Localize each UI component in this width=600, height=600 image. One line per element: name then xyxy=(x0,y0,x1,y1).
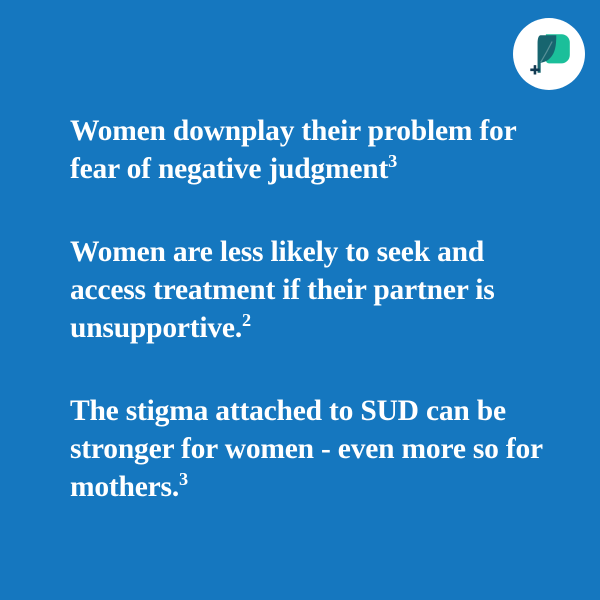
statement-1: Women downplay their problem for fear of… xyxy=(70,112,550,188)
statement-1-text: Women downplay their problem for fear of… xyxy=(70,115,516,185)
statement-list: Women downplay their problem for fear of… xyxy=(70,112,550,506)
statement-2-footnote: 2 xyxy=(242,310,251,330)
statement-3-text: The stigma attached to SUD can be strong… xyxy=(70,395,542,503)
statement-3: The stigma attached to SUD can be strong… xyxy=(70,392,550,506)
poster-canvas: Women downplay their problem for fear of… xyxy=(0,0,600,600)
brand-logo-badge xyxy=(513,18,585,90)
leaf-plus-icon xyxy=(523,28,575,80)
statement-3-footnote: 3 xyxy=(179,469,188,489)
statement-1-footnote: 3 xyxy=(388,151,397,171)
statement-2: Women are less likely to seek and access… xyxy=(70,233,550,347)
statement-2-text: Women are less likely to seek and access… xyxy=(70,236,495,344)
